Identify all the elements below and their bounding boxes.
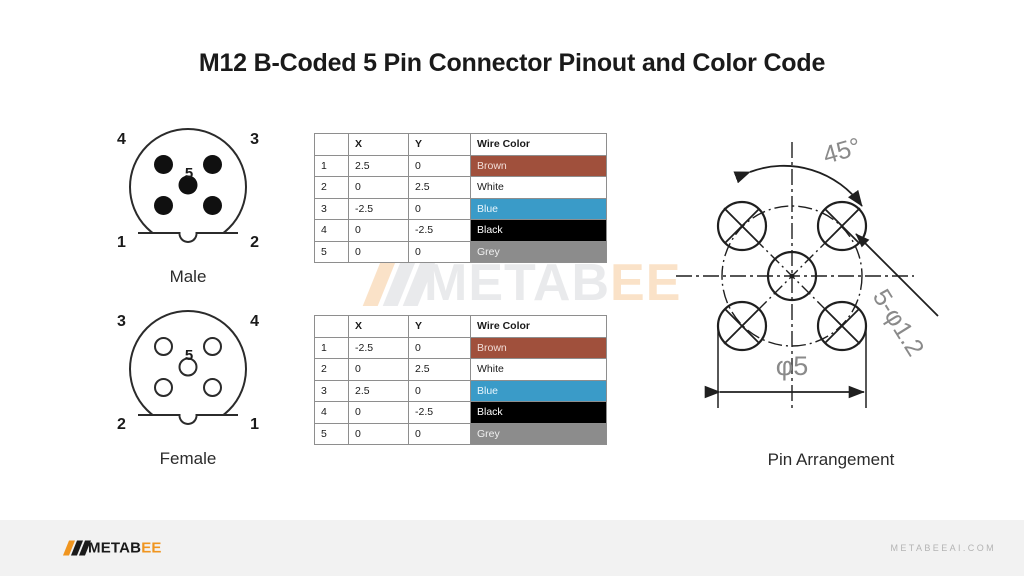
- angle-arc-45: [750, 166, 862, 206]
- pin-arrangement-drawing: 45° 5-φ1.2 φ5: [676, 120, 986, 420]
- cell-pin: 1: [315, 155, 349, 177]
- male-connector-face: 5: [129, 128, 247, 246]
- column-header-x: X: [349, 134, 409, 156]
- diameter-annotation-phi5: φ5: [776, 351, 809, 381]
- metabee-logo-mark-icon: [66, 541, 91, 556]
- cell-wire-color: Blue: [471, 380, 607, 402]
- male-connector-caption: Male: [103, 267, 273, 287]
- cell-x: -2.5: [349, 337, 409, 359]
- metabee-watermark-mark-icon: [370, 260, 434, 306]
- female-pin-label-2: 2: [117, 416, 126, 434]
- cell-y: 0: [409, 380, 471, 402]
- female-socket-4: [203, 337, 222, 356]
- male-pin-label-1: 1: [117, 234, 126, 252]
- cell-wire-color: Blue: [471, 198, 607, 220]
- cell-wire-color: Grey: [471, 423, 607, 445]
- cell-x: 0: [349, 220, 409, 242]
- male-center-pin-label: 5: [185, 165, 193, 182]
- male-pin-1: [154, 196, 173, 215]
- angle-annotation-45: 45°: [820, 132, 864, 169]
- female-connector-diagram: 3 4 2 1 5 Female: [103, 310, 273, 475]
- metabee-logo-text: METABEE: [88, 541, 162, 556]
- cell-x: 0: [349, 423, 409, 445]
- cell-x: 0: [349, 402, 409, 424]
- cell-wire-color: White: [471, 359, 607, 381]
- cell-pin: 2: [315, 177, 349, 199]
- table-row: 40-2.5Black: [315, 402, 607, 424]
- table-row: 3-2.50Blue: [315, 198, 607, 220]
- center-point: [790, 274, 795, 279]
- connector-notch-gap: [181, 413, 196, 417]
- table-header-row: XYWire Color: [315, 134, 607, 156]
- table-row: 32.50Blue: [315, 380, 607, 402]
- cell-pin: 2: [315, 359, 349, 381]
- cell-x: 0: [349, 359, 409, 381]
- female-socket-2: [154, 378, 173, 397]
- cell-pin: 4: [315, 220, 349, 242]
- column-header-wire-color: Wire Color: [471, 316, 607, 338]
- column-header-pin: [315, 316, 349, 338]
- hole-top-left: [718, 202, 766, 250]
- cell-x: 0: [349, 241, 409, 263]
- hole-annotation-5-phi12: 5-φ1.2: [867, 284, 930, 361]
- male-pin-2: [203, 196, 222, 215]
- cell-wire-color: Black: [471, 402, 607, 424]
- table-row: 202.5White: [315, 359, 607, 381]
- male-pin-label-3: 3: [250, 131, 259, 149]
- cell-wire-color: Black: [471, 220, 607, 242]
- female-socket-1: [203, 378, 222, 397]
- table-row: 500Grey: [315, 241, 607, 263]
- male-pin-4: [154, 155, 173, 174]
- column-header-y: Y: [409, 134, 471, 156]
- female-connector-caption: Female: [103, 449, 273, 469]
- cell-y: -2.5: [409, 402, 471, 424]
- connector-notch-gap: [181, 231, 196, 235]
- cell-y: 0: [409, 198, 471, 220]
- column-header-wire-color: Wire Color: [471, 134, 607, 156]
- cell-wire-color: White: [471, 177, 607, 199]
- cell-y: 0: [409, 337, 471, 359]
- pin-arrangement-caption: Pin Arrangement: [676, 450, 986, 470]
- cell-pin: 5: [315, 241, 349, 263]
- male-connector-diagram: 4 3 1 2 5 Male: [103, 128, 273, 293]
- table-header-row: XYWire Color: [315, 316, 607, 338]
- table-row: 202.5White: [315, 177, 607, 199]
- footer-bar: METABEE METABEEAI.COM: [0, 520, 1024, 576]
- cell-pin: 1: [315, 337, 349, 359]
- column-header-x: X: [349, 316, 409, 338]
- table-row: 12.50Brown: [315, 155, 607, 177]
- column-header-y: Y: [409, 316, 471, 338]
- hole-bottom-right: [818, 302, 866, 350]
- hole-bottom-left: [718, 302, 766, 350]
- cell-y: 2.5: [409, 177, 471, 199]
- cell-wire-color: Brown: [471, 155, 607, 177]
- cell-y: 0: [409, 241, 471, 263]
- page-title: M12 B-Coded 5 Pin Connector Pinout and C…: [0, 49, 1024, 78]
- cell-x: 2.5: [349, 380, 409, 402]
- cell-x: 2.5: [349, 155, 409, 177]
- cell-y: 0: [409, 155, 471, 177]
- table-row: 40-2.5Black: [315, 220, 607, 242]
- male-pin-label-4: 4: [117, 131, 126, 149]
- cell-wire-color: Grey: [471, 241, 607, 263]
- cell-pin: 3: [315, 198, 349, 220]
- cell-x: 0: [349, 177, 409, 199]
- column-header-pin: [315, 134, 349, 156]
- cell-pin: 3: [315, 380, 349, 402]
- female-center-pin-label: 5: [185, 347, 193, 364]
- metabee-watermark-text: METABEE: [424, 257, 681, 309]
- female-pin-label-3: 3: [117, 313, 126, 331]
- pin-arrangement-svg: 45° 5-φ1.2 φ5: [676, 120, 986, 420]
- cell-wire-color: Brown: [471, 337, 607, 359]
- cell-x: -2.5: [349, 198, 409, 220]
- female-connector-face: 5: [129, 310, 247, 428]
- table-row: 500Grey: [315, 423, 607, 445]
- cell-y: -2.5: [409, 220, 471, 242]
- slide-canvas: M12 B-Coded 5 Pin Connector Pinout and C…: [0, 0, 1024, 576]
- cell-y: 0: [409, 423, 471, 445]
- female-pin-label-4: 4: [250, 313, 259, 331]
- female-pin-label-1: 1: [250, 416, 259, 434]
- table-row: 1-2.50Brown: [315, 337, 607, 359]
- female-pinout-table: XYWire Color 1-2.50Brown202.5White32.50B…: [314, 315, 607, 445]
- female-socket-3: [154, 337, 173, 356]
- cell-y: 2.5: [409, 359, 471, 381]
- male-pinout-table: XYWire Color 12.50Brown202.5White3-2.50B…: [314, 133, 607, 263]
- cell-pin: 5: [315, 423, 349, 445]
- hole-top-right: [818, 202, 866, 250]
- metabee-footer-logo[interactable]: METABEE: [66, 541, 162, 556]
- male-pin-label-2: 2: [250, 234, 259, 252]
- footer-website-url: METABEEAI.COM: [890, 543, 996, 553]
- cell-pin: 4: [315, 402, 349, 424]
- male-pin-3: [203, 155, 222, 174]
